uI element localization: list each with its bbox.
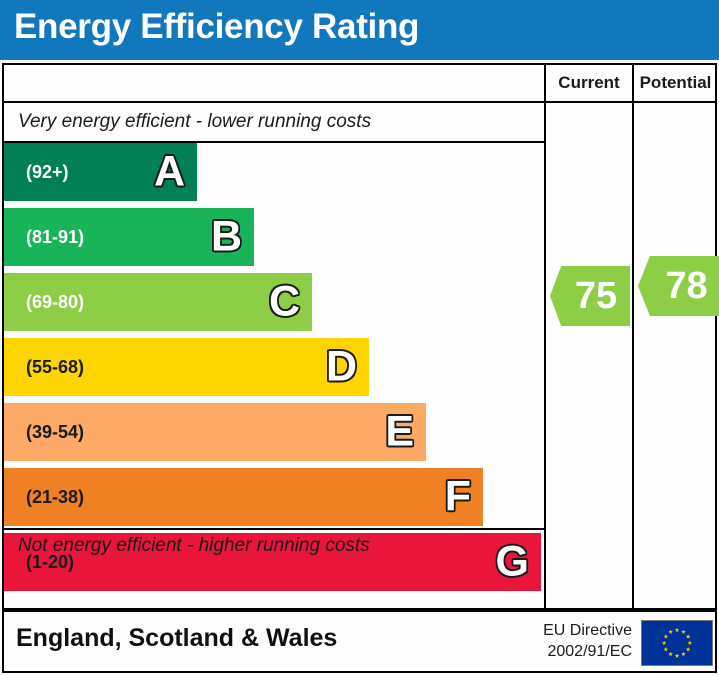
band-d: (55-68)D: [4, 338, 369, 396]
band-a: (92+)A: [4, 143, 197, 201]
band-range-f: (21-38): [26, 468, 84, 526]
caption-inefficient: Not energy efficient - higher running co…: [18, 535, 528, 557]
band-range-d: (55-68): [26, 338, 84, 396]
footer-region-label: England, Scotland & Wales: [16, 624, 337, 653]
caption-rule-bottom: [4, 528, 544, 530]
current-rating-arrow: 75: [550, 266, 630, 326]
directive-line-2: 2002/91/EC: [522, 641, 632, 662]
column-header-row: Current Potential: [4, 65, 715, 103]
footer-bar: England, Scotland & Wales EU Directive 2…: [2, 610, 717, 673]
eu-flag-icon: [641, 620, 713, 666]
band-range-e: (39-54): [26, 403, 84, 461]
current-rating-value: 75: [563, 277, 617, 315]
column-header-potential: Potential: [632, 65, 717, 101]
rating-table: Current Potential Very energy efficient …: [2, 63, 717, 610]
column-divider-potential: [632, 103, 634, 608]
band-letter-a: A: [154, 151, 185, 194]
band-letter-f: F: [445, 476, 471, 519]
band-c: (69-80)C: [4, 273, 312, 331]
band-letter-e: E: [385, 411, 414, 454]
directive-line-1: EU Directive: [522, 620, 632, 641]
band-list: (92+)A(81-91)B(69-80)C(55-68)D(39-54)E(2…: [4, 143, 544, 528]
potential-rating-value: 78: [653, 267, 707, 305]
epc-energy-efficiency-chart: Energy Efficiency Rating Current Potenti…: [0, 0, 719, 675]
column-header-current: Current: [544, 65, 632, 101]
footer-directive: EU Directive 2002/91/EC: [522, 620, 632, 662]
title-bar: Energy Efficiency Rating: [0, 0, 719, 60]
band-letter-c: C: [269, 281, 300, 324]
caption-efficient: Very energy efficient - lower running co…: [18, 111, 528, 133]
band-range-a: (92+): [26, 143, 69, 201]
band-range-c: (69-80): [26, 273, 84, 331]
band-letter-b: B: [211, 216, 242, 259]
band-letter-d: D: [326, 346, 357, 389]
band-f: (21-38)F: [4, 468, 483, 526]
column-divider-current: [544, 103, 546, 608]
band-b: (81-91)B: [4, 208, 254, 266]
band-e: (39-54)E: [4, 403, 426, 461]
page-title: Energy Efficiency Rating: [14, 7, 419, 47]
potential-rating-arrow: 78: [638, 256, 719, 316]
band-range-b: (81-91): [26, 208, 84, 266]
